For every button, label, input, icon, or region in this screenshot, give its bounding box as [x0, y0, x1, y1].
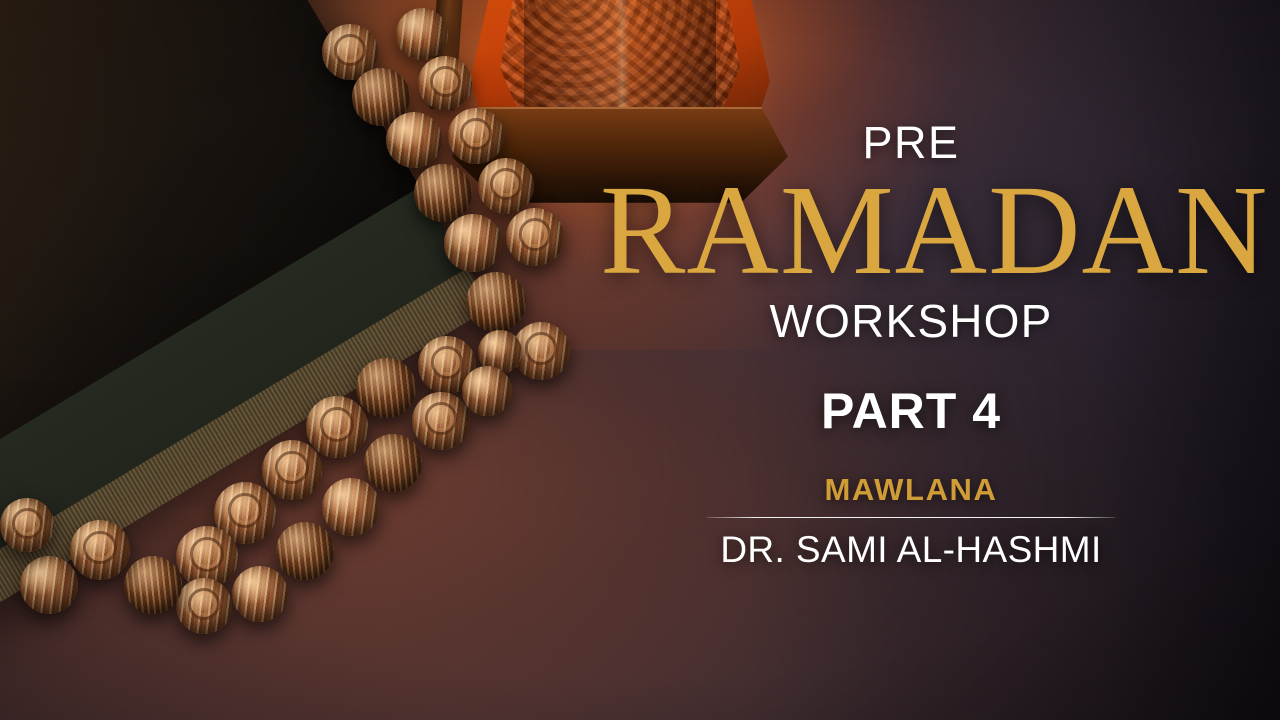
ramadan-workshop-title-card: PRE RAMADAN WORKSHOP PART 4 MAWLANA DR. … — [0, 0, 1280, 720]
speaker-divider — [707, 517, 1115, 518]
subtitle-workshop: WORKSHOP — [600, 298, 1222, 344]
page-title: RAMADAN — [600, 169, 1222, 292]
speaker-honorific: MAWLANA — [600, 474, 1222, 505]
title-block: PRE RAMADAN WORKSHOP PART 4 MAWLANA DR. … — [600, 120, 1222, 568]
speaker-name: DR. SAMI AL-HASHMI — [600, 531, 1222, 568]
part-label: PART 4 — [600, 386, 1222, 436]
